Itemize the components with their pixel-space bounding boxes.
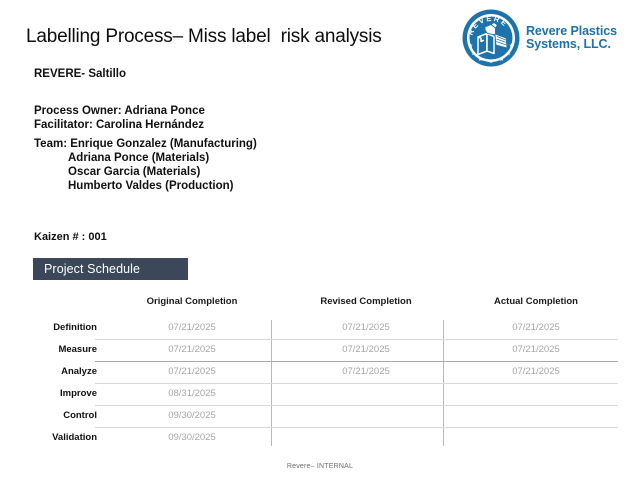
schedule-grid: Definition 07/21/2025 07/21/2025 07/21/2… xyxy=(24,318,618,446)
project-schedule-banner: Project Schedule xyxy=(33,258,188,280)
table-row[interactable]: Analyze 07/21/2025 07/21/2025 07/21/2025 xyxy=(24,362,618,383)
logo-wordmark: Revere Plastics Systems, LLC. xyxy=(526,25,617,52)
table-row[interactable]: Validation 09/30/2025 xyxy=(24,428,618,449)
cell-actual[interactable]: 07/21/2025 xyxy=(454,322,618,333)
row-phase-label: Improve xyxy=(24,388,97,399)
team-member-line: Humberto Valdes (Production) xyxy=(34,179,257,193)
cell-original[interactable]: 07/21/2025 xyxy=(107,322,277,333)
table-row[interactable]: Measure 07/21/2025 07/21/2025 07/21/2025 xyxy=(24,340,618,361)
team-lead-line: Team: Enrique Gonzalez (Manufacturing) xyxy=(34,137,257,151)
cell-actual[interactable]: 07/21/2025 xyxy=(454,366,618,377)
column-header-actual: Actual Completion xyxy=(454,296,618,307)
row-phase-label: Analyze xyxy=(24,366,97,377)
cell-revised[interactable]: 07/21/2025 xyxy=(281,322,451,333)
cell-original[interactable]: 07/21/2025 xyxy=(107,366,277,377)
cell-original[interactable]: 09/30/2025 xyxy=(107,410,277,421)
cell-revised[interactable]: 07/21/2025 xyxy=(281,366,451,377)
kaizen-number: Kaizen # : 001 xyxy=(34,231,107,243)
row-phase-label: Validation xyxy=(24,432,97,443)
project-schedule-table: Original Completion Revised Completion A… xyxy=(24,296,618,446)
team-member-line: Adriana Ponce (Materials) xyxy=(34,151,257,165)
row-phase-label: Definition xyxy=(24,322,97,333)
row-phase-label: Measure xyxy=(24,344,97,355)
facilitator-line: Facilitator: Carolina Hernández xyxy=(34,118,257,132)
cell-revised[interactable]: 07/21/2025 xyxy=(281,344,451,355)
table-row[interactable]: Definition 07/21/2025 07/21/2025 07/21/2… xyxy=(24,318,618,339)
project-schedule-banner-label: Project Schedule xyxy=(33,262,140,276)
site-label: REVERE- Saltillo xyxy=(34,68,126,80)
slide-canvas: REVERE xyxy=(0,0,640,480)
footer-confidentiality: Revere– INTERNAL xyxy=(0,463,640,470)
cell-original[interactable]: 08/31/2025 xyxy=(107,388,277,399)
logo-wordmark-line2: Systems, LLC. xyxy=(526,38,617,52)
team-member-line: Oscar Garcia (Materials) xyxy=(34,165,257,179)
logo-wordmark-line1: Revere Plastics xyxy=(526,25,617,39)
table-row[interactable]: Control 09/30/2025 xyxy=(24,406,618,427)
cell-actual[interactable]: 07/21/2025 xyxy=(454,344,618,355)
company-logo: REVERE xyxy=(461,7,636,69)
column-header-original: Original Completion xyxy=(107,296,277,307)
column-header-revised: Revised Completion xyxy=(281,296,451,307)
page-title: Labelling Process– Miss label risk analy… xyxy=(26,26,382,48)
table-row[interactable]: Improve 08/31/2025 xyxy=(24,384,618,405)
row-phase-label: Control xyxy=(24,410,97,421)
schedule-header-row: Original Completion Revised Completion A… xyxy=(24,296,618,318)
process-owner-line: Process Owner: Adriana Ponce xyxy=(34,104,257,118)
revere-badge-icon: REVERE xyxy=(461,8,521,68)
team-roster: Process Owner: Adriana Ponce Facilitator… xyxy=(34,104,257,193)
cell-original[interactable]: 09/30/2025 xyxy=(107,432,277,443)
cell-original[interactable]: 07/21/2025 xyxy=(107,344,277,355)
